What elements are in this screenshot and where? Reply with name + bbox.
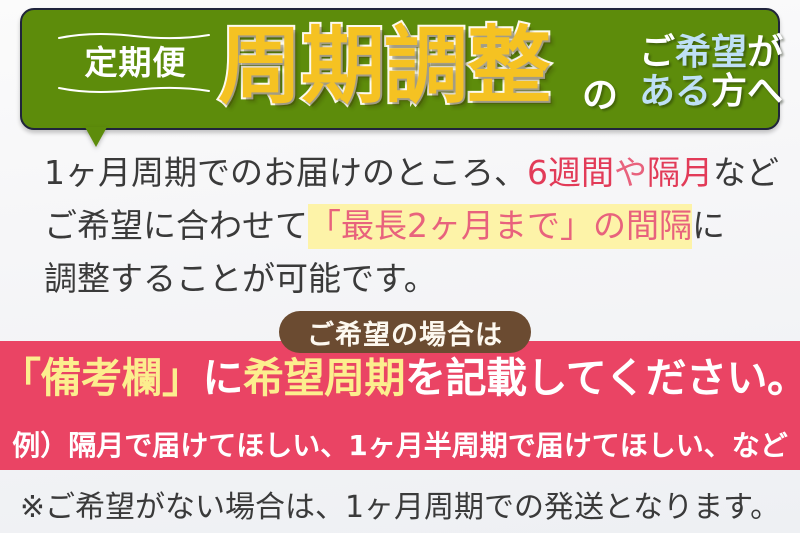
subscription-badge: 定期便 xyxy=(58,32,213,94)
header-subtitle: ご希望が ある方へ xyxy=(626,34,796,112)
request-case-badge: ご希望の場合は xyxy=(279,311,531,353)
body-line1-plain-b: など xyxy=(713,153,779,192)
body-line-1: 1ヶ月周期でのお届けのところ、6週間や隔月など xyxy=(44,146,774,199)
subtitle-part-go: ご xyxy=(639,32,675,73)
speech-bubble-tail-icon xyxy=(85,127,107,147)
subtitle-part-aru: ある xyxy=(639,71,711,112)
body-line2-highlighted-range: 「最長2ヶ月まで」の間隔 xyxy=(308,204,692,249)
body-line2-plain-b: に xyxy=(692,206,725,245)
wave-line-bottom-icon xyxy=(58,85,210,94)
subtitle-part-katae: 方へ xyxy=(711,71,783,112)
header-main-title: 周期調整 xyxy=(218,24,550,108)
body-line1-emphasis-weeks: 6週間 xyxy=(527,153,614,192)
callout-desired-cycle: 希望周期 xyxy=(243,354,405,402)
green-header: 定期便 周期調整 の ご希望が ある方へ xyxy=(20,8,780,130)
callout-particle-ni: に xyxy=(203,354,244,402)
body-paragraph: 1ヶ月周期でのお届けのところ、6週間や隔月など ご希望に合わせて「最長2ヶ月まで… xyxy=(44,146,774,305)
wave-line-top-icon xyxy=(58,32,210,41)
subtitle-part-ga: が xyxy=(747,32,783,73)
callout-instruction-tail: を記載してください。 xyxy=(405,354,800,402)
promotional-banner: 定期便 周期調整 の ご希望が ある方へ 1ヶ月周期でのお届けのところ、6週間や… xyxy=(0,0,800,533)
callout-remarks-field: 「備考欄」 xyxy=(0,354,203,402)
header-subtitle-line2: ある方へ xyxy=(626,73,796,112)
body-line-2: ご希望に合わせて「最長2ヶ月まで」の間隔に xyxy=(44,199,774,252)
subscription-badge-label: 定期便 xyxy=(58,44,213,82)
header-subtitle-line1: ご希望が xyxy=(626,34,796,73)
body-line1-emphasis-bimonthly: 隔月 xyxy=(647,153,713,192)
body-line1-particle-ya: や xyxy=(614,153,647,192)
green-header-box: 定期便 周期調整 の ご希望が ある方へ xyxy=(20,8,780,130)
request-case-badge-label: ご希望の場合は xyxy=(307,313,503,352)
body-line-3: 調整することが可能です。 xyxy=(44,252,774,305)
body-line1-plain-a: 1ヶ月周期でのお届けのところ、 xyxy=(44,153,527,192)
callout-main-message: 「備考欄」に希望周期を記載してください。 xyxy=(0,355,800,402)
callout-example-text: 例）隔月で届けてほしい、1ヶ月半周期で届けてほしい、など xyxy=(0,424,800,464)
subtitle-part-kibou: 希望 xyxy=(675,32,747,73)
footer-note: ※ご希望がない場合は、1ヶ月周期での発送となります。 xyxy=(0,482,800,526)
body-line2-plain-a: ご希望に合わせて xyxy=(44,206,308,245)
header-connector-particle: の xyxy=(582,66,618,118)
